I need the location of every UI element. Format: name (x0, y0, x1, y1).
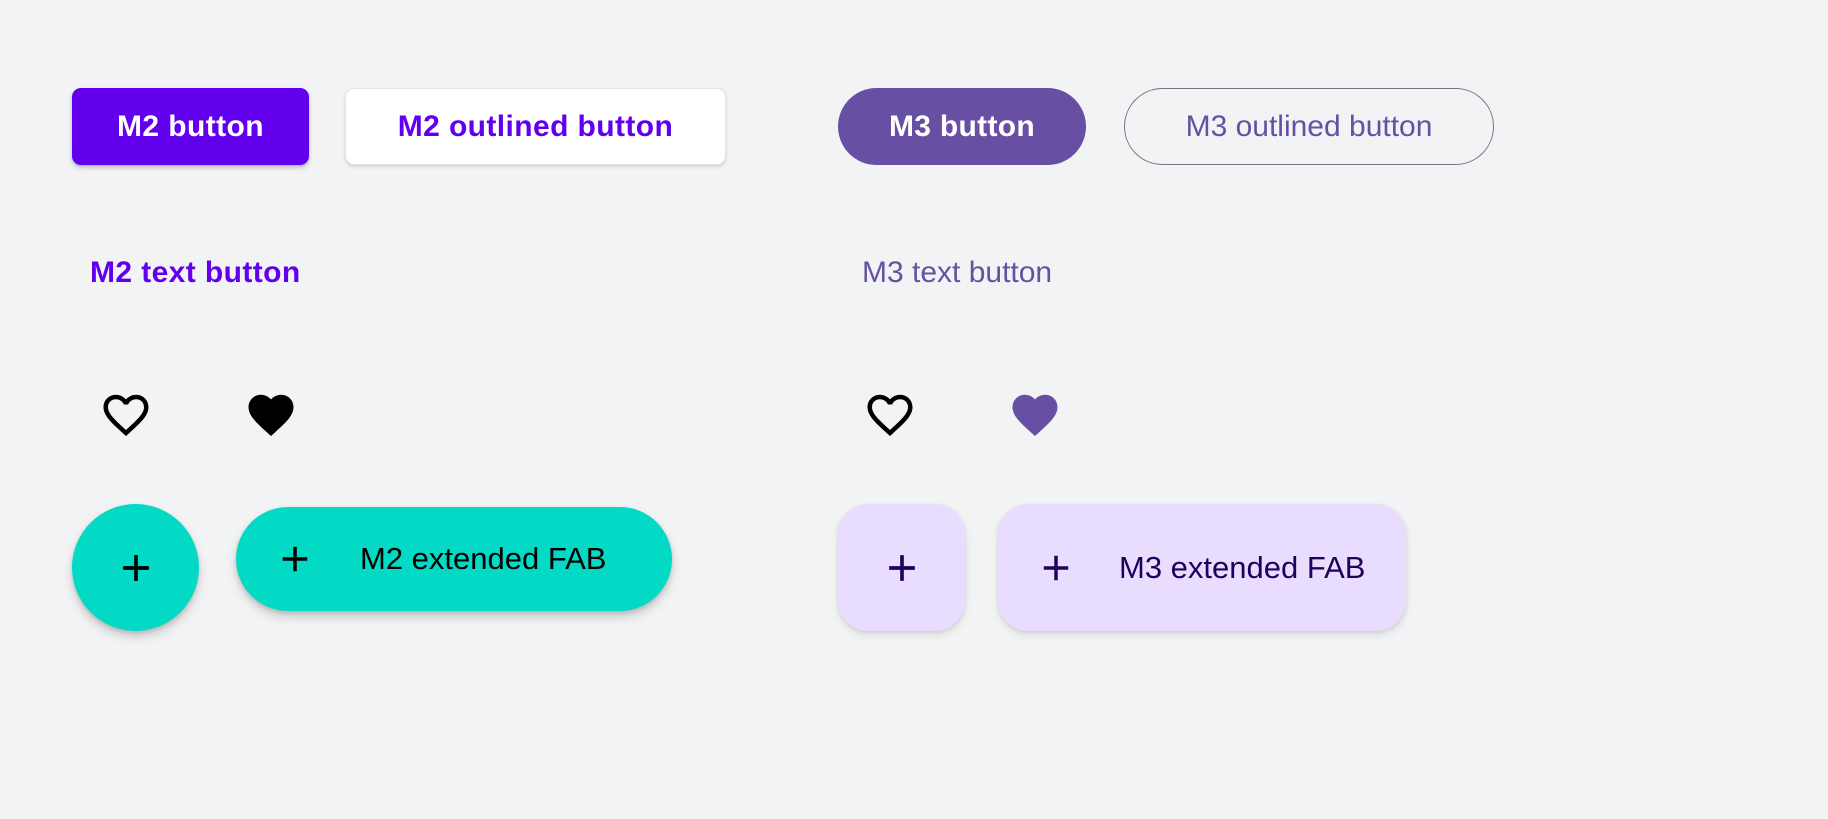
m2-favorite-filled-button[interactable] (244, 388, 298, 442)
m2-outlined-button-label: M2 outlined button (398, 110, 673, 144)
m3-text-button[interactable]: M3 text button (862, 251, 1052, 295)
plus-icon (880, 546, 924, 590)
m3-text-button-label: M3 text button (862, 256, 1052, 290)
m2-text-button-label: M2 text button (90, 256, 301, 290)
m2-extended-fab[interactable]: M2 extended FAB (236, 507, 672, 611)
plus-icon (1035, 547, 1077, 589)
m3-extended-fab-label: M3 extended FAB (1119, 550, 1365, 586)
m2-favorite-outline-button[interactable] (99, 388, 153, 442)
heart-outline-icon (99, 388, 153, 442)
m2-fab[interactable] (72, 504, 199, 631)
m3-outlined-button[interactable]: M3 outlined button (1124, 88, 1494, 165)
m2-filled-button[interactable]: M2 button (72, 88, 309, 165)
m2-extended-fab-label: M2 extended FAB (360, 541, 606, 577)
m2-filled-button-label: M2 button (117, 110, 264, 144)
m3-outlined-button-label: M3 outlined button (1186, 110, 1433, 144)
plus-icon (274, 538, 316, 580)
m2-text-button[interactable]: M2 text button (90, 251, 301, 295)
plus-icon (114, 546, 158, 590)
m3-filled-button[interactable]: M3 button (838, 88, 1086, 165)
heart-outline-icon (863, 388, 917, 442)
component-showcase: M2 button M2 outlined button M2 text but… (0, 0, 1828, 819)
heart-filled-icon (244, 388, 298, 442)
m3-favorite-outline-button[interactable] (863, 388, 917, 442)
heart-filled-icon (1008, 388, 1062, 442)
m3-extended-fab[interactable]: M3 extended FAB (998, 504, 1406, 631)
m3-favorite-filled-button[interactable] (1008, 388, 1062, 442)
m3-fab[interactable] (838, 504, 965, 631)
m3-filled-button-label: M3 button (889, 110, 1035, 144)
m2-outlined-button[interactable]: M2 outlined button (345, 88, 726, 165)
